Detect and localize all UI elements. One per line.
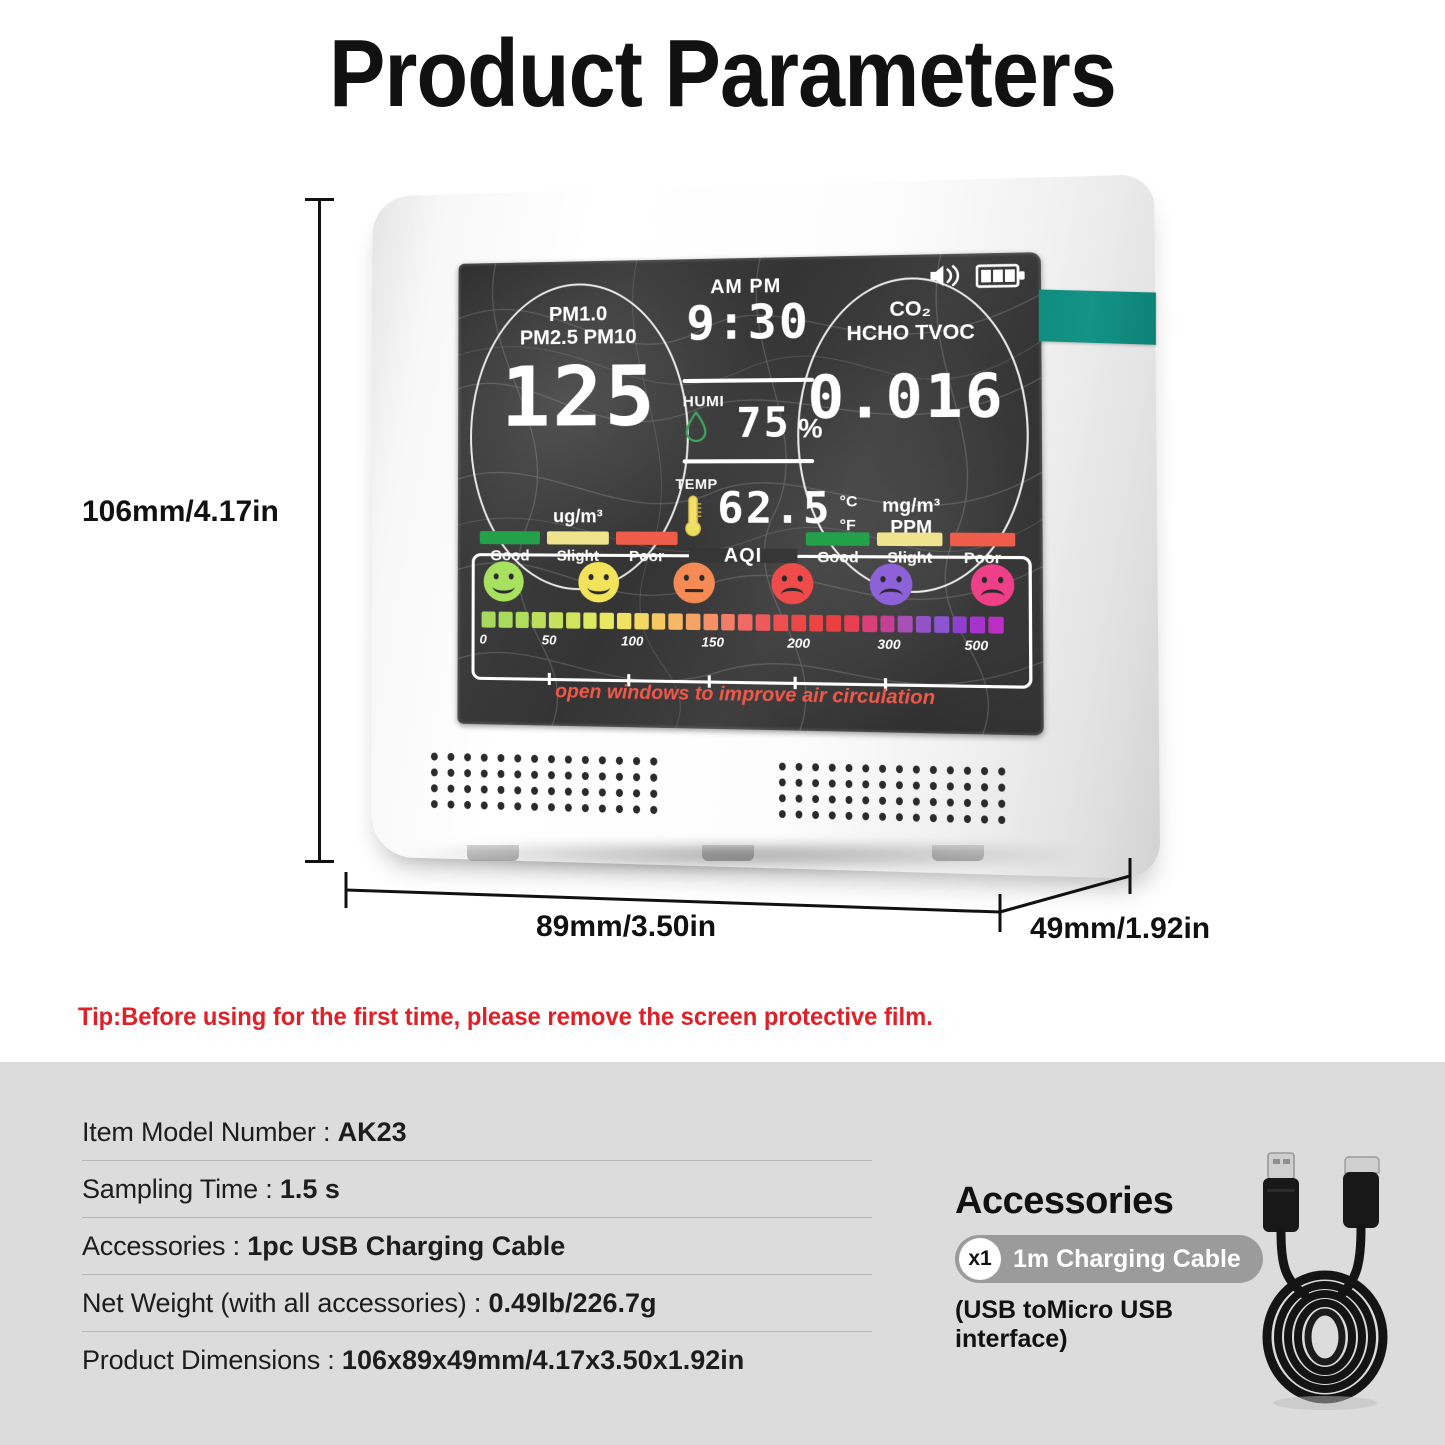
pm-title-line2: PM2.5 PM10 <box>520 326 637 350</box>
temperature-units: °C °F <box>840 491 858 538</box>
accessories-block: Accessories x1 1m Charging Cable (USB to… <box>955 1180 1275 1354</box>
legend-bar-poor <box>616 532 678 545</box>
aqi-scale-segment <box>738 614 752 631</box>
spec-label: Accessories : <box>82 1231 247 1261</box>
spec-row: Product Dimensions : 106x89x49mm/4.17x3.… <box>82 1332 872 1388</box>
aqi-scale-segment <box>721 614 735 631</box>
page-title: Product Parameters <box>87 24 1359 125</box>
height-dimension-label: 106mm/4.17in <box>82 495 279 529</box>
pm-unit: ug/m³ <box>480 506 678 528</box>
aqi-scale-segment <box>498 612 512 628</box>
aqi-scale-segment <box>703 614 717 631</box>
usb-cable-icon <box>1245 1145 1410 1415</box>
aqi-scale-segment <box>651 613 665 629</box>
screen-protective-film-tab[interactable] <box>1039 289 1156 344</box>
speaker-vent-right <box>774 758 1010 828</box>
spec-value: 0.49lb/226.7g <box>488 1288 656 1318</box>
pm-value: 125 <box>472 356 687 440</box>
aqi-tick-300: 300 <box>877 636 900 652</box>
happy-yellow-face-icon <box>578 562 619 603</box>
temperature-value: 62.5 <box>706 487 842 530</box>
aqi-tick-0: 0 <box>480 632 487 647</box>
aqi-scale-segment <box>862 615 877 632</box>
tip-text: Tip:Before using for the first time, ple… <box>78 1003 933 1032</box>
aqi-scale-segment <box>634 613 648 629</box>
sad-red-face-icon <box>771 563 813 605</box>
aqi-scale-segment <box>827 615 842 632</box>
aqi-scale-segment <box>686 614 700 631</box>
gas-value: 0.016 <box>791 365 1022 427</box>
aqi-scale-segment <box>583 612 597 628</box>
clock-value: 9:30 <box>675 298 821 347</box>
thermometer-icon <box>683 493 704 540</box>
height-dimension-line <box>318 198 321 863</box>
spec-label: Net Weight (with all accessories) : <box>82 1288 488 1318</box>
neutral-orange-face-icon <box>674 562 715 603</box>
pm-title-line1: PM1.0 <box>549 303 607 326</box>
aqi-scale-segment <box>549 612 563 628</box>
pm-title: PM1.0 PM2.5 PM10 <box>480 302 677 351</box>
lcd-screen: PM1.0 PM2.5 PM10 125 ug/m³ CO₂ HCHO TVOC… <box>457 252 1043 735</box>
air-quality-monitor-device: PM1.0 PM2.5 PM10 125 ug/m³ CO₂ HCHO TVOC… <box>372 195 1112 865</box>
gas-title: CO₂ HCHO TVOC <box>805 296 1017 347</box>
spec-value: AK23 <box>338 1117 407 1147</box>
spec-label: Item Model Number : <box>82 1117 338 1147</box>
spec-row: Net Weight (with all accessories) : 0.49… <box>82 1275 872 1332</box>
legend-bar-slight <box>547 531 608 544</box>
product-hero: 106mm/4.17in <box>0 150 1445 1000</box>
aqi-tick-50: 50 <box>542 632 557 647</box>
spec-value: 1pc USB Charging Cable <box>247 1231 565 1261</box>
aqi-scale-segment <box>617 613 631 629</box>
aqi-scale-segment <box>880 616 895 633</box>
aqi-scale-segment <box>773 614 788 631</box>
depth-dimension-label: 49mm/1.92in <box>1030 912 1210 946</box>
spec-value: 106x89x49mm/4.17x3.50x1.92in <box>342 1345 744 1375</box>
speaker-vent-left <box>426 748 662 818</box>
gas-unit-line1: mg/m³ <box>882 495 940 516</box>
accessories-note: (USB toMicro USB interface) <box>955 1296 1275 1354</box>
spec-label: Sampling Time : <box>82 1174 280 1204</box>
aqi-scale-segment <box>898 616 913 633</box>
aqi-scale-segment <box>989 617 1004 634</box>
legend-bar-good <box>480 531 540 544</box>
aqi-tick-200: 200 <box>787 635 810 651</box>
aqi-scale-segment <box>952 616 967 633</box>
aqi-tick-100: 100 <box>621 633 643 649</box>
aqi-scale-segment <box>669 613 683 630</box>
aqi-tick-500: 500 <box>965 637 989 653</box>
legend-bar-poor <box>950 533 1016 547</box>
aqi-scale-segment <box>934 616 949 633</box>
spec-label: Product Dimensions : <box>82 1345 342 1375</box>
gas-title-line2: HCHO TVOC <box>846 321 975 345</box>
water-drop-icon <box>685 411 708 442</box>
accessories-title: Accessories <box>955 1180 1275 1223</box>
aqi-scale-segment <box>756 614 770 631</box>
accessories-quantity: x1 <box>959 1238 1001 1280</box>
aqi-scale-segment <box>970 616 985 633</box>
aqi-scale-segment <box>844 615 859 632</box>
divider-humidity <box>683 459 814 463</box>
aqi-scale-segment <box>482 611 496 627</box>
aqi-scale-segment <box>532 612 546 628</box>
gas-title-line1: CO₂ <box>889 298 931 321</box>
accessories-item-label: 1m Charging Cable <box>1013 1245 1241 1274</box>
aqi-scale-segment <box>566 612 580 628</box>
legend-bar-slight <box>877 532 942 546</box>
temperature-unit-celsius: °C <box>840 493 858 511</box>
aqi-tick-150: 150 <box>701 634 724 650</box>
spec-value: 1.5 s <box>280 1174 340 1204</box>
height-dimension-cap-top <box>305 198 334 201</box>
aqi-scale-segment <box>515 612 529 628</box>
spec-row: Sampling Time : 1.5 s <box>82 1161 872 1218</box>
height-dimension-cap-bottom <box>305 860 334 863</box>
aqi-scale-segment <box>791 615 806 632</box>
sad-pink-face-icon <box>971 564 1015 606</box>
spec-table: Item Model Number : AK23 Sampling Time :… <box>82 1104 872 1388</box>
width-dimension-label: 89mm/3.50in <box>536 910 716 944</box>
humidity-unit: % <box>798 413 822 445</box>
aqi-face-row <box>484 561 1015 606</box>
aqi-scale-segment <box>600 613 614 629</box>
accessories-badge: x1 1m Charging Cable <box>955 1235 1263 1283</box>
spec-panel: Item Model Number : AK23 Sampling Time :… <box>0 1062 1445 1445</box>
legend-bar-good <box>806 532 870 546</box>
spec-row: Accessories : 1pc USB Charging Cable <box>82 1218 872 1275</box>
aqi-scale-segment <box>916 616 931 633</box>
temperature-unit-fahrenheit: °F <box>840 516 856 534</box>
sad-purple-face-icon <box>870 564 913 606</box>
happy-green-face-icon <box>484 561 524 602</box>
battery-icon <box>976 263 1026 289</box>
aqi-scale-segment <box>809 615 824 632</box>
spec-row: Item Model Number : AK23 <box>82 1104 872 1161</box>
